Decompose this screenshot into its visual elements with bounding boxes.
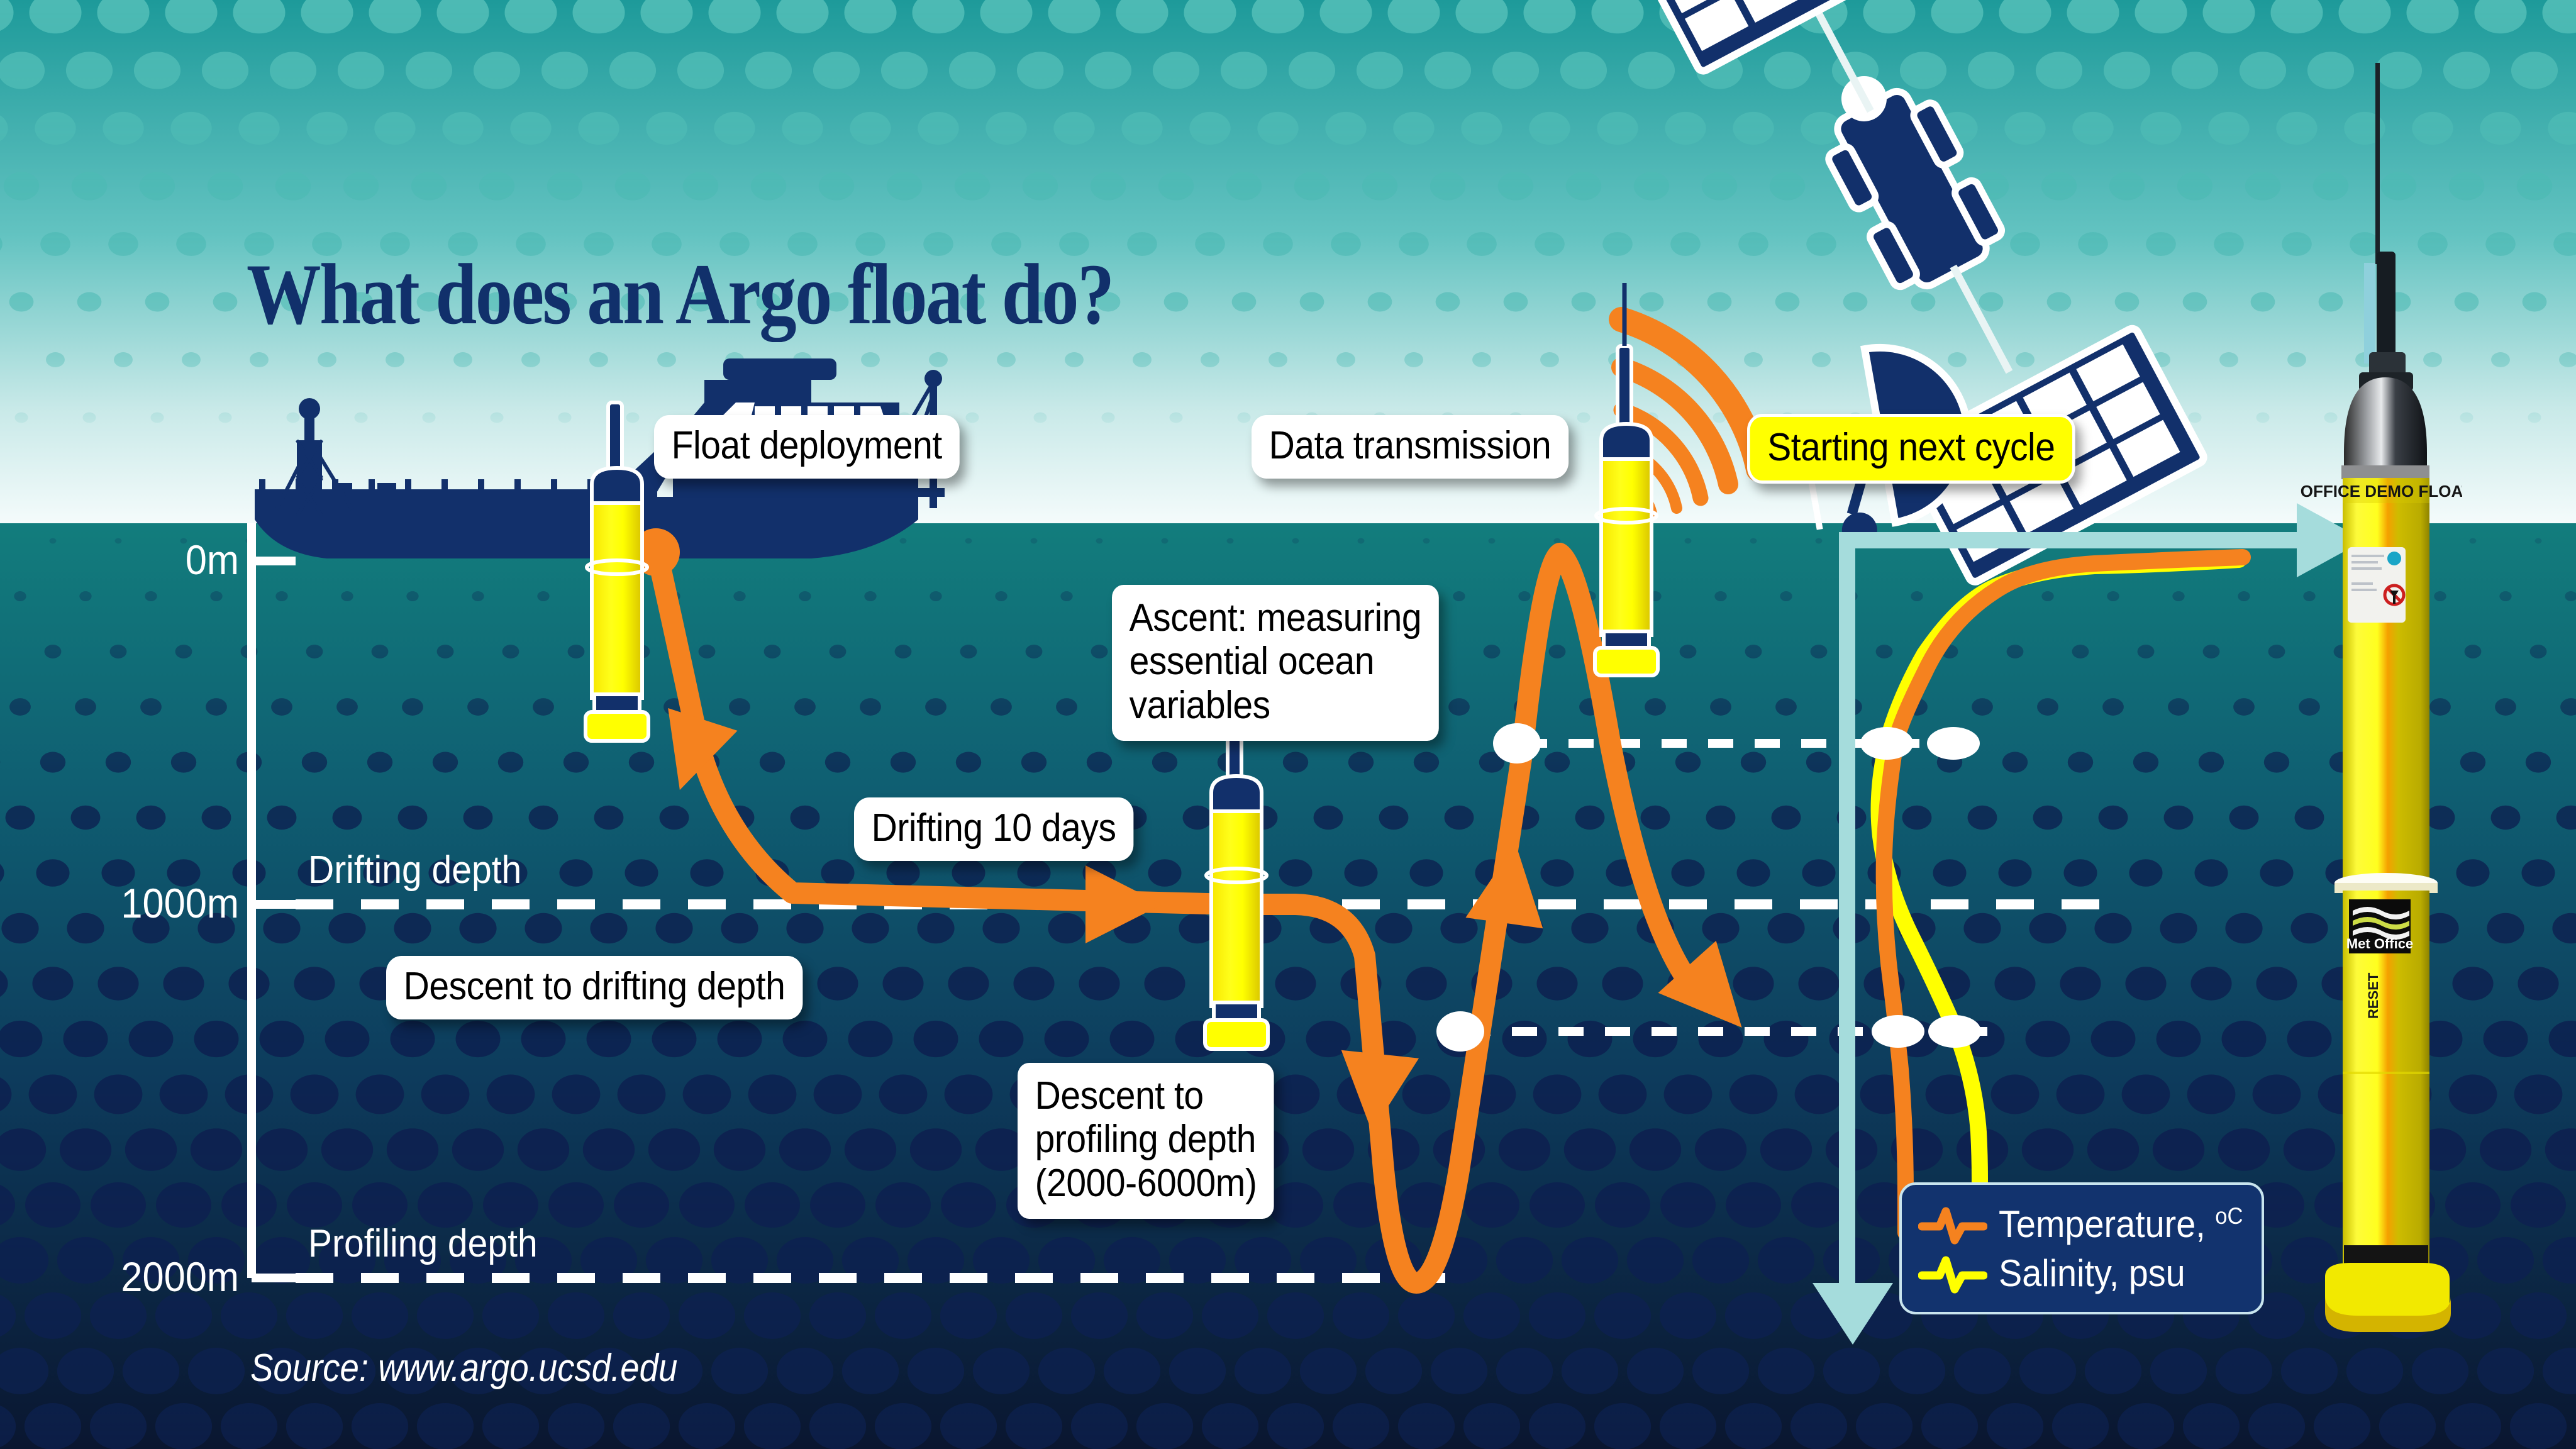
callout-starting-next-cycle[interactable]: Starting next cycle xyxy=(1747,414,2075,484)
callout-descent-to-drifting-depth[interactable]: Descent to drifting depth xyxy=(386,956,802,1019)
argo-float-photo: OFFICE DEMO FLOAT Met Office xyxy=(2299,63,2462,1346)
drifting-depth-label: Drifting depth xyxy=(308,848,521,892)
temperature-line-icon xyxy=(1918,1201,1987,1246)
callout-descent-to-profiling-depth[interactable]: Descent to profiling depth (2000-6000m) xyxy=(1018,1063,1274,1219)
legend-item-temperature[interactable]: Temperature, oC xyxy=(1918,1201,2245,1246)
source-credit: Source: www.argo.ucsd.edu xyxy=(250,1346,677,1391)
marker-ascent-2000 xyxy=(1436,1011,1484,1052)
float-band-text: OFFICE DEMO FLOAT xyxy=(2301,482,2462,501)
callout-data-transmission[interactable]: Data transmission xyxy=(1252,415,1568,479)
float-reset-label: RESET xyxy=(2365,972,2381,1019)
profile-chart xyxy=(1879,557,2243,1233)
depth-axis xyxy=(252,523,296,1278)
infographic-canvas: OFFICE DEMO FLOAT Met Office xyxy=(0,0,2576,1449)
chart-legend: Temperature, oC Salinity, psu xyxy=(1899,1182,2264,1314)
legend-item-salinity[interactable]: Salinity, psu xyxy=(1918,1250,2245,1296)
profiling-depth-label: Profiling depth xyxy=(308,1221,538,1266)
legend-label-salinity: Salinity, psu xyxy=(1999,1252,2185,1295)
depth-tick-2000m: 2000m xyxy=(75,1253,239,1301)
depth-tick-1000m: 1000m xyxy=(75,879,239,927)
legend-label-temperature: Temperature, oC xyxy=(1999,1202,2243,1246)
marker-ascent-1000 xyxy=(1493,723,1541,763)
callout-ascent-measuring[interactable]: Ascent: measuring essential ocean variab… xyxy=(1112,585,1439,741)
depth-tick-0m: 0m xyxy=(110,536,239,584)
profile-marker-temperature-1000 xyxy=(1927,727,1980,760)
profile-marker-temperature-2000 xyxy=(1872,1015,1924,1048)
callout-drifting-10-days[interactable]: Drifting 10 days xyxy=(854,797,1133,861)
salinity-line-icon xyxy=(1918,1250,1987,1296)
argo-float-icon-deployment xyxy=(586,402,648,741)
profile-marker-salinity-1000 xyxy=(1860,727,1913,760)
met-office-brand: Met Office xyxy=(2346,936,2413,952)
callout-float-deployment[interactable]: Float deployment xyxy=(654,415,959,479)
page-title: What does an Argo float do? xyxy=(247,244,1113,344)
profile-marker-salinity-2000 xyxy=(1928,1015,1981,1048)
legend-temperature-unit: oC xyxy=(2215,1202,2243,1229)
temperature-curve xyxy=(1884,557,2243,1233)
